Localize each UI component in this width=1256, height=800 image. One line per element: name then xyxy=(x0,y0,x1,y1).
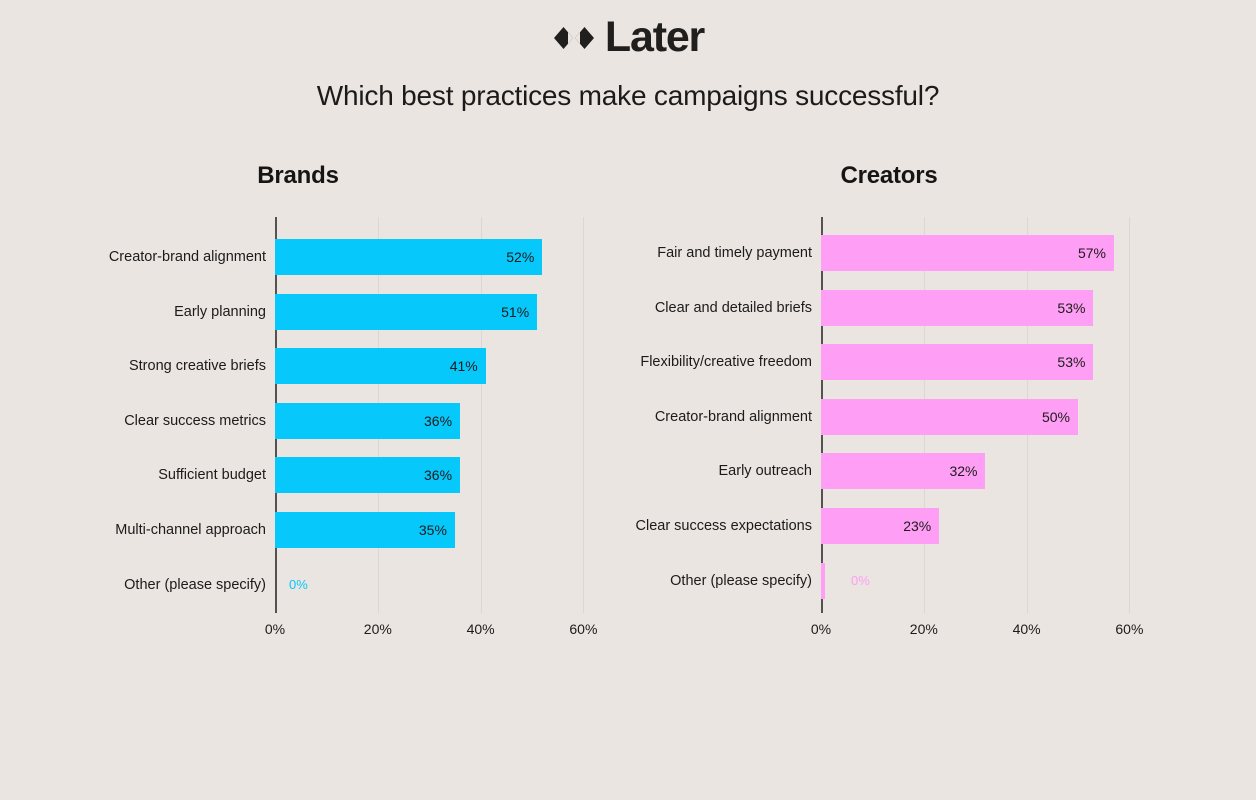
bar-value-label: 53% xyxy=(1057,344,1085,380)
bar-value-label: 32% xyxy=(949,453,977,489)
category-label: Early outreach xyxy=(719,453,813,489)
category-label: Flexibility/creative freedom xyxy=(640,344,812,380)
chart-panel-creators: Creators Fair and timely payment57%Clear… xyxy=(610,150,1210,670)
plot-area-brands: Creator-brand alignment52%Early planning… xyxy=(275,217,605,613)
x-axis-tick-brands-40%: 40% xyxy=(467,621,495,637)
x-axis-tick-creators-0%: 0% xyxy=(811,621,831,637)
bar-row: Other (please specify)0% xyxy=(821,563,1151,599)
bar-value-label: 36% xyxy=(424,403,452,439)
bar-row: Clear and detailed briefs53% xyxy=(821,290,1151,326)
bar xyxy=(275,294,537,330)
bar xyxy=(821,399,1078,435)
bar xyxy=(821,235,1114,271)
category-label: Other (please specify) xyxy=(670,563,812,599)
bar xyxy=(821,563,825,599)
category-label: Creator-brand alignment xyxy=(109,239,266,275)
x-axis-tick-brands-60%: 60% xyxy=(569,621,597,637)
bar-row: Early planning51% xyxy=(275,294,605,330)
x-axis-tick-brands-0%: 0% xyxy=(265,621,285,637)
category-label: Other (please specify) xyxy=(124,567,266,603)
bar-row: Creator-brand alignment50% xyxy=(821,399,1151,435)
bar-row: Clear success metrics36% xyxy=(275,403,605,439)
bar xyxy=(275,239,542,275)
x-axis-tick-creators-20%: 20% xyxy=(910,621,938,637)
page-title: Which best practices make campaigns succ… xyxy=(0,80,1256,112)
bar-row: Other (please specify)0% xyxy=(275,567,605,603)
category-label: Clear success metrics xyxy=(124,403,266,439)
bar xyxy=(821,344,1093,380)
bar-row: Early outreach32% xyxy=(821,453,1151,489)
x-axis-tick-creators-60%: 60% xyxy=(1115,621,1143,637)
bar-row: Flexibility/creative freedom53% xyxy=(821,344,1151,380)
logo-wordmark: Later xyxy=(605,16,704,59)
chart-title-brands: Brands xyxy=(18,162,578,190)
bar-value-label: 51% xyxy=(501,294,529,330)
bar-row: Multi-channel approach35% xyxy=(275,512,605,548)
bar-value-label: 0% xyxy=(851,563,870,599)
bar-row: Fair and timely payment57% xyxy=(821,235,1151,271)
x-axis-tick-creators-40%: 40% xyxy=(1013,621,1041,637)
bar-row: Sufficient budget36% xyxy=(275,457,605,493)
chart-title-creators: Creators xyxy=(589,162,1189,190)
plot-area-creators: Fair and timely payment57%Clear and deta… xyxy=(821,217,1151,613)
brand-logo: Later xyxy=(0,14,1256,60)
category-label: Strong creative briefs xyxy=(129,348,266,384)
category-label: Clear and detailed briefs xyxy=(655,290,812,326)
bar-value-label: 57% xyxy=(1078,235,1106,271)
bar-value-label: 23% xyxy=(903,508,931,544)
bar-value-label: 50% xyxy=(1042,399,1070,435)
bar-value-label: 53% xyxy=(1057,290,1085,326)
category-label: Fair and timely payment xyxy=(657,235,812,271)
category-label: Early planning xyxy=(174,294,266,330)
chart-panel-brands: Brands Creator-brand alignment52%Early p… xyxy=(60,150,620,670)
bar-value-label: 0% xyxy=(289,567,308,603)
bar-value-label: 35% xyxy=(419,512,447,548)
x-axis-tick-brands-20%: 20% xyxy=(364,621,392,637)
bar xyxy=(821,290,1093,326)
bar-value-label: 36% xyxy=(424,457,452,493)
bar-row: Strong creative briefs41% xyxy=(275,348,605,384)
bar-value-label: 52% xyxy=(506,239,534,275)
category-label: Multi-channel approach xyxy=(115,512,266,548)
bar-row: Creator-brand alignment52% xyxy=(275,239,605,275)
bar-value-label: 41% xyxy=(450,348,478,384)
later-diamonds-logo-icon xyxy=(552,25,596,51)
category-label: Clear success expectations xyxy=(636,508,813,544)
bar-row: Clear success expectations23% xyxy=(821,508,1151,544)
category-label: Sufficient budget xyxy=(158,457,266,493)
category-label: Creator-brand alignment xyxy=(655,399,812,435)
